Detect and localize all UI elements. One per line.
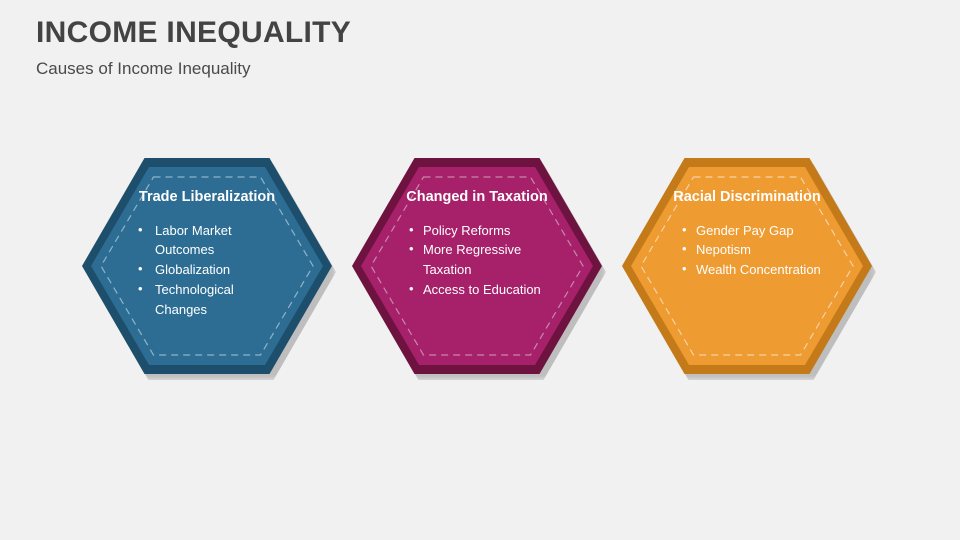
hexagon-heading: Racial Discrimination bbox=[673, 188, 820, 207]
page-title: INCOME INEQUALITY bbox=[36, 16, 736, 51]
hexagon-bullet-list: Gender Pay Gap Nepotism Wealth Concentra… bbox=[681, 221, 831, 280]
hexagon-bullet-list: Policy Reforms More Regressive Taxation … bbox=[408, 221, 558, 300]
list-item: Policy Reforms bbox=[408, 221, 558, 241]
hexagon-row: Trade Liberalization Labor Market Outcom… bbox=[0, 158, 960, 388]
list-item: Nepotism bbox=[681, 240, 831, 260]
hexagon-content: Trade Liberalization Labor Market Outcom… bbox=[82, 158, 332, 374]
list-item: Globalization bbox=[137, 260, 287, 280]
list-item: Access to Education bbox=[408, 280, 558, 300]
hexagon-card-changed-in-taxation[interactable]: Changed in Taxation Policy Reforms More … bbox=[352, 158, 606, 380]
hexagon-heading: Trade Liberalization bbox=[139, 188, 275, 207]
hexagon-heading: Changed in Taxation bbox=[406, 188, 548, 207]
hexagon-content: Changed in Taxation Policy Reforms More … bbox=[352, 158, 602, 374]
hexagon-card-racial-discrimination[interactable]: Racial Discrimination Gender Pay Gap Nep… bbox=[622, 158, 876, 380]
list-item: More Regressive Taxation bbox=[408, 240, 558, 280]
slide-canvas: INCOME INEQUALITY Causes of Income Inequ… bbox=[0, 0, 960, 540]
slide-header: INCOME INEQUALITY Causes of Income Inequ… bbox=[36, 16, 736, 79]
page-subtitle: Causes of Income Inequality bbox=[36, 59, 736, 79]
list-item: Labor Market Outcomes bbox=[137, 221, 287, 261]
list-item: Gender Pay Gap bbox=[681, 221, 831, 241]
list-item: Technological Changes bbox=[137, 280, 287, 320]
hexagon-bullet-list: Labor Market Outcomes Globalization Tech… bbox=[137, 221, 287, 320]
hexagon-content: Racial Discrimination Gender Pay Gap Nep… bbox=[622, 158, 872, 374]
hexagon-card-trade-liberalization[interactable]: Trade Liberalization Labor Market Outcom… bbox=[82, 158, 336, 380]
list-item: Wealth Concentration bbox=[681, 260, 831, 280]
